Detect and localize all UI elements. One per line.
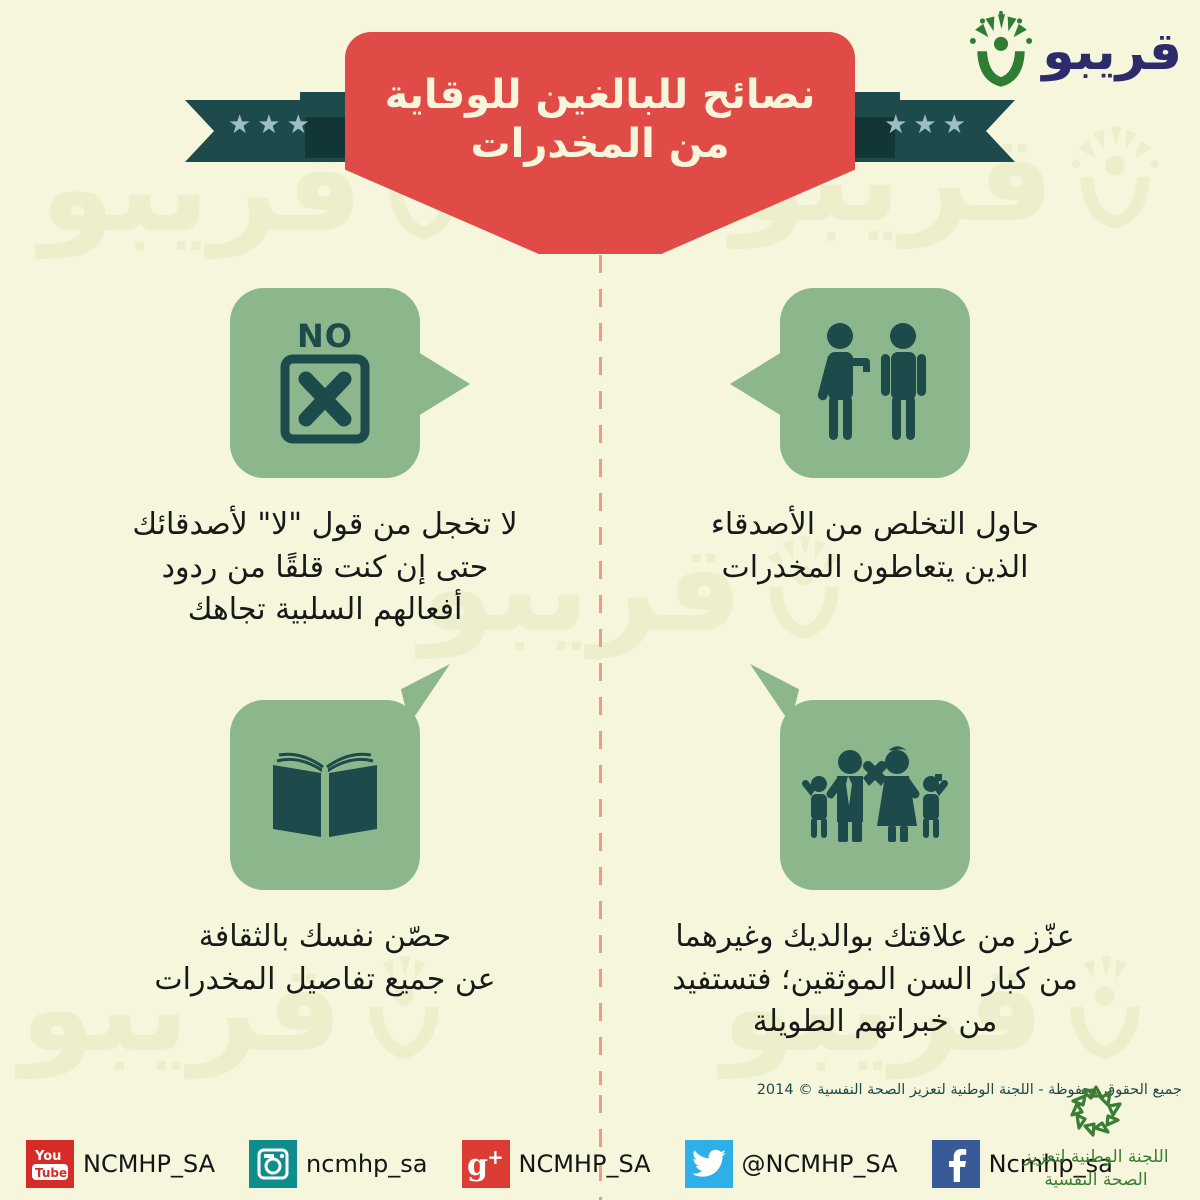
svg-text:Tube: Tube	[35, 1166, 67, 1180]
tip-card-strengthen-family-ties: عزّز من علاقتك بوالديك وغيرهما من كبار ا…	[640, 700, 1110, 1044]
open-book-icon	[230, 700, 420, 890]
facebook-icon	[932, 1140, 980, 1188]
tip-caption: عزّز من علاقتك بوالديك وغيرهما من كبار ا…	[640, 916, 1110, 1044]
tip-icon-wrap: NO	[230, 288, 420, 478]
social-handle: NCMHP_SA	[83, 1150, 215, 1178]
tip-card-no-to-friends: NO لا تخجل من قول "لا" لأصدقائك حتى إن ك…	[90, 288, 560, 632]
social-link-youtube[interactable]: You Tube NCMHP_SA	[26, 1140, 215, 1188]
svg-text:g: g	[467, 1148, 488, 1182]
tip-caption: حاول التخلص من الأصدقاء الذين يتعاطون ال…	[640, 504, 1110, 589]
ribbon-stars-right: ★★★	[884, 112, 972, 138]
twitter-icon	[685, 1140, 733, 1188]
arrow-left-icon	[730, 352, 782, 416]
social-link-twitter[interactable]: @NCMHP_SA	[685, 1140, 898, 1188]
ncmhp-org-logo: اللجنة الوطنية لتعزيز الصحة النفسية	[1008, 1082, 1184, 1192]
no-label: NO	[297, 317, 353, 355]
no-cross-box-icon: NO	[230, 288, 420, 478]
tip-card-educate-yourself: حصّن نفسك بالثقافة عن جميع تفاصيل المخدر…	[90, 700, 560, 1001]
social-handle: @NCMHP_SA	[742, 1150, 898, 1178]
page-title: نصائح للبالغين للوقاية من المخدرات	[385, 71, 816, 215]
youtube-icon: You Tube	[26, 1140, 74, 1188]
instagram-icon	[249, 1140, 297, 1188]
infographic-page: قريبو قريبو قريبو	[0, 0, 1200, 1200]
family-icon	[780, 700, 970, 890]
footer: جميع الحقوق محفوظة - اللجنة الوطنية لتعز…	[0, 1070, 1200, 1200]
tip-icon-wrap	[230, 700, 420, 890]
tip-icon-wrap	[780, 288, 970, 478]
svg-text:+: +	[487, 1146, 504, 1169]
title-ribbon: ★★★ ★★★ نصائح للبالغين للوقاية من المخدر…	[0, 0, 1200, 260]
svg-text:You: You	[34, 1149, 61, 1164]
social-link-instagram[interactable]: ncmhp_sa	[249, 1140, 427, 1188]
tip-caption: حصّن نفسك بالثقافة عن جميع تفاصيل المخدر…	[90, 916, 560, 1001]
vertical-dashed-divider	[599, 255, 602, 1085]
title-plate: نصائح للبالغين للوقاية من المخدرات	[345, 32, 855, 254]
two-people-icon	[780, 288, 970, 478]
ncmhp-org-name: اللجنة الوطنية لتعزيز الصحة النفسية	[1008, 1146, 1184, 1192]
social-link-googleplus[interactable]: g + NCMHP_SA	[462, 1140, 651, 1188]
social-links-row: Ncmhp_sa @NCMHP_SA g + NCMHP_SA	[0, 1140, 1060, 1188]
tip-card-avoid-drug-friends: حاول التخلص من الأصدقاء الذين يتعاطون ال…	[640, 288, 1110, 589]
google-plus-icon: g +	[462, 1140, 510, 1188]
tip-caption: لا تخجل من قول "لا" لأصدقائك حتى إن كنت …	[90, 504, 560, 632]
ribbon-stars-left: ★★★	[228, 112, 316, 138]
tip-icon-wrap	[780, 700, 970, 890]
social-handle: ncmhp_sa	[306, 1150, 427, 1178]
social-handle: NCMHP_SA	[519, 1150, 651, 1178]
arrow-right-icon	[418, 352, 470, 416]
ncmhp-starburst-icon	[1065, 1082, 1127, 1140]
